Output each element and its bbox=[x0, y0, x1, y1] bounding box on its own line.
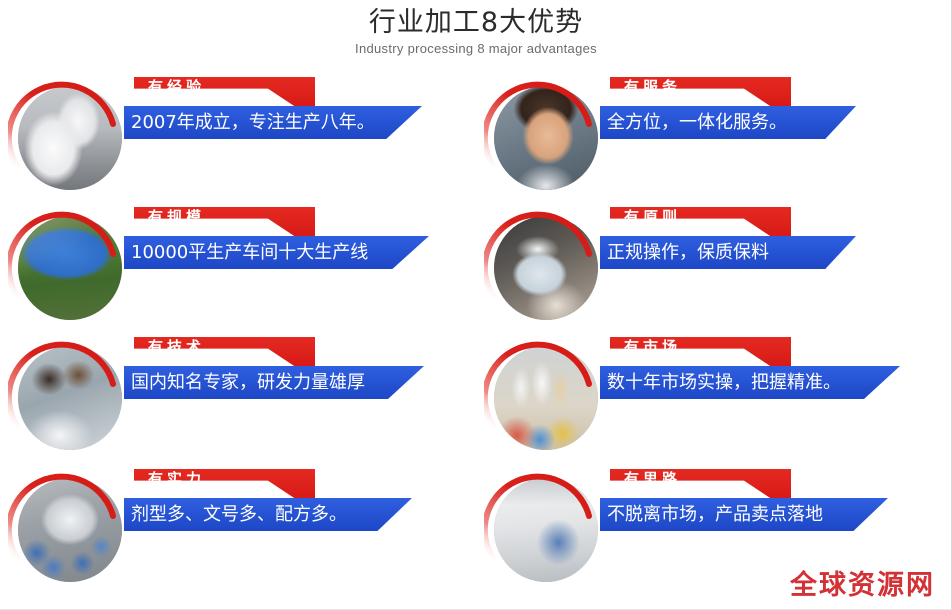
red-arc-icon bbox=[484, 340, 600, 456]
advantage-tag-label: 有思路 bbox=[624, 469, 681, 489]
advantage-item: 有规模10000平生产车间十大生产线 bbox=[0, 202, 440, 330]
red-arc-icon bbox=[8, 210, 124, 326]
advantage-text-label: 10000平生产车间十大生产线 bbox=[131, 236, 368, 269]
advantage-item: 有市场数十年市场实操，把握精准。 bbox=[476, 332, 916, 460]
advantage-item: 有技术国内知名专家，研发力量雄厚 bbox=[0, 332, 440, 460]
advantages-grid: 有经验2007年成立，专注生产八年。有服务全方位，一体化服务。有规模10000平… bbox=[0, 72, 952, 610]
advantage-banners: 有实力剂型多、文号多、配方多。 bbox=[124, 464, 440, 592]
advantage-thumbnail[interactable] bbox=[484, 472, 600, 588]
watermark: 全球资源网 bbox=[790, 563, 935, 602]
advantage-text-label: 全方位，一体化服务。 bbox=[607, 106, 787, 139]
red-arc-icon bbox=[484, 210, 600, 326]
advantage-text-label: 数十年市场实操，把握精准。 bbox=[607, 366, 841, 399]
advantage-banners: 有原则正规操作，保质保料 bbox=[600, 202, 916, 330]
advantage-tag-label: 有规模 bbox=[148, 207, 205, 227]
red-arc-icon bbox=[8, 472, 124, 588]
advantage-banners: 有规模10000平生产车间十大生产线 bbox=[124, 202, 440, 330]
advantage-tag-label: 有经验 bbox=[148, 77, 205, 97]
advantage-text-label: 正规操作，保质保料 bbox=[607, 236, 769, 269]
advantage-item: 有实力剂型多、文号多、配方多。 bbox=[0, 464, 440, 592]
advantage-item: 有服务全方位，一体化服务。 bbox=[476, 72, 916, 200]
advantage-text-label: 剂型多、文号多、配方多。 bbox=[131, 498, 347, 531]
advantage-text-label: 国内知名专家，研发力量雄厚 bbox=[131, 366, 365, 399]
advantage-tag-label: 有原则 bbox=[624, 207, 681, 227]
advantage-tag-label: 有市场 bbox=[624, 337, 681, 357]
page-title: 行业加工8大优势 bbox=[0, 6, 952, 39]
advantage-thumbnail[interactable] bbox=[8, 472, 124, 588]
page-subtitle: Industry processing 8 major advantages bbox=[0, 40, 952, 58]
advantage-tag-label: 有实力 bbox=[148, 469, 205, 489]
red-arc-icon bbox=[8, 340, 124, 456]
page-header: 行业加工8大优势 Industry processing 8 major adv… bbox=[0, 6, 952, 58]
advantage-thumbnail[interactable] bbox=[8, 210, 124, 326]
advantage-banners: 有服务全方位，一体化服务。 bbox=[600, 72, 916, 200]
advantage-tag-label: 有技术 bbox=[148, 337, 205, 357]
red-arc-icon bbox=[484, 80, 600, 196]
advantage-thumbnail[interactable] bbox=[484, 210, 600, 326]
advantages-poster: 行业加工8大优势 Industry processing 8 major adv… bbox=[0, 0, 952, 610]
advantage-tag-label: 有服务 bbox=[624, 77, 681, 97]
advantage-text-label: 不脱离市场，产品卖点落地 bbox=[607, 498, 823, 531]
advantage-text-label: 2007年成立，专注生产八年。 bbox=[131, 106, 375, 139]
advantage-banners: 有经验2007年成立，专注生产八年。 bbox=[124, 72, 440, 200]
advantage-thumbnail[interactable] bbox=[484, 80, 600, 196]
red-arc-icon bbox=[484, 472, 600, 588]
advantage-banners: 有技术国内知名专家，研发力量雄厚 bbox=[124, 332, 440, 460]
advantage-item: 有原则正规操作，保质保料 bbox=[476, 202, 916, 330]
red-arc-icon bbox=[8, 80, 124, 196]
advantage-thumbnail[interactable] bbox=[8, 80, 124, 196]
advantage-banners: 有市场数十年市场实操，把握精准。 bbox=[600, 332, 916, 460]
advantage-thumbnail[interactable] bbox=[484, 340, 600, 456]
advantage-item: 有经验2007年成立，专注生产八年。 bbox=[0, 72, 440, 200]
advantage-thumbnail[interactable] bbox=[8, 340, 124, 456]
